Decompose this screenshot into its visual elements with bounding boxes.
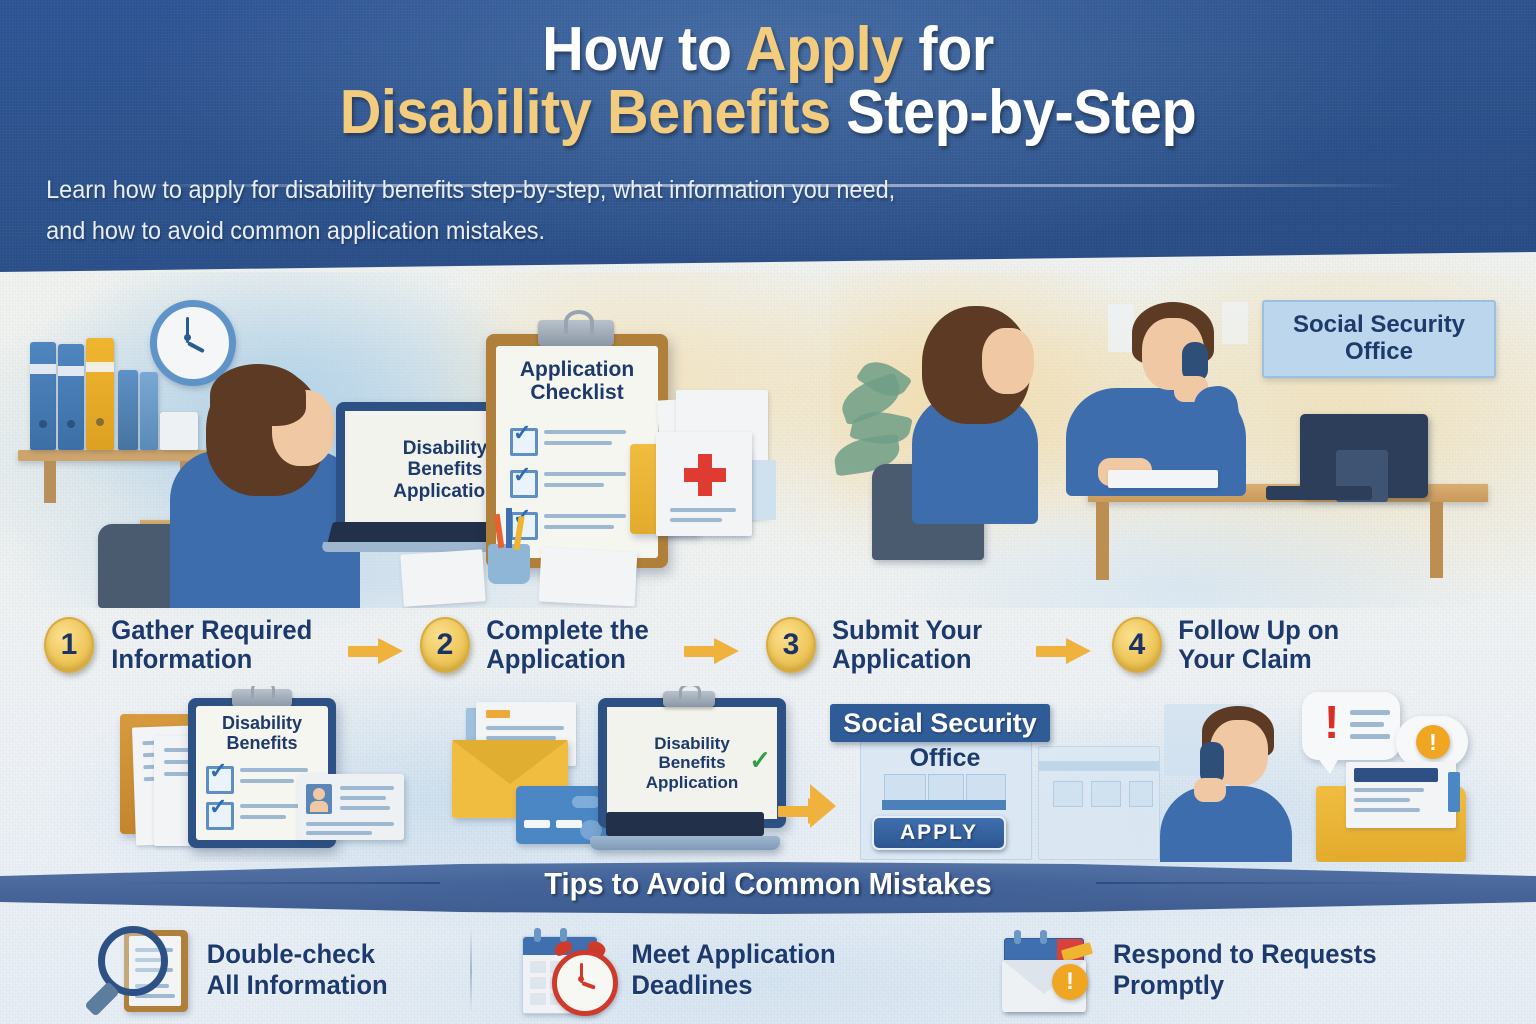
alert-bubble-amber: ! xyxy=(1396,716,1468,768)
page-title-line-2: Disability Benefits Step-by-Step xyxy=(54,81,1482,144)
alert-bubble-red-tail xyxy=(1316,756,1340,774)
hero-scene-ss-office: Social Security Office xyxy=(830,272,1536,608)
medical-cross-horizontal xyxy=(684,468,726,482)
office-keyboard xyxy=(1266,486,1372,500)
step-panel-1: Disability Benefits ✓ ✓ xyxy=(100,686,430,862)
tip2-calendar-ring-1 xyxy=(534,928,541,942)
step-label-1: Gather Required Information xyxy=(111,616,312,674)
binder-4 xyxy=(118,370,138,450)
social-security-office-sign: Social Security Office xyxy=(1262,300,1496,378)
amber-exclamation-icon: ! xyxy=(1416,725,1450,759)
panel1-check-icon-1: ✓ xyxy=(209,760,227,782)
step-item-4[interactable]: 4 Follow Up on Your Claim xyxy=(1112,616,1343,674)
tip2-alarm-clock xyxy=(552,950,618,1016)
laptop-keyboard xyxy=(327,522,492,544)
envelope-alert-icon: ! xyxy=(1000,924,1092,1016)
binder-5 xyxy=(140,372,158,450)
binder-2 xyxy=(58,344,84,450)
step-label-4-line-2: Your Claim xyxy=(1178,645,1339,674)
loose-paper-right xyxy=(539,548,638,607)
page-title-line-1: How to Apply for xyxy=(54,18,1482,81)
step-item-2[interactable]: 2 Complete the Application xyxy=(420,616,653,674)
subtitle-line-2: and how to avoid common application mist… xyxy=(46,211,1490,252)
step-panel-3: Social Security Office APPLY xyxy=(810,686,1160,862)
envelope-flap xyxy=(452,740,568,784)
desk-papers xyxy=(1108,470,1218,488)
tip-label-1-line-1: Double-check xyxy=(207,939,388,970)
tips-title: Tips to Avoid Common Mistakes xyxy=(46,866,1490,902)
clock-hour-hand xyxy=(187,341,205,353)
calendar-alarm-clock-icon xyxy=(520,924,612,1016)
step-label-3: Submit Your Application xyxy=(832,616,982,674)
title-part-disability-benefits: Disability Benefits xyxy=(340,78,847,147)
step-arrow-2-to-3 xyxy=(684,638,740,664)
title-part-apply: Apply xyxy=(745,15,903,84)
hero-scene-home-office: Disability Benefits Application ✓ Applic… xyxy=(0,272,830,608)
monitor-text-line-1: Disability xyxy=(403,438,487,460)
hero-illustrations: Disability Benefits Application ✓ Applic… xyxy=(0,272,1536,608)
step-illustration-panels: Disability Benefits ✓ ✓ xyxy=(0,686,1536,862)
step-label-2-line-1: Complete the xyxy=(486,616,648,645)
tips-section: Tips to Avoid Common Mistakes Double-che… xyxy=(0,862,1536,1024)
loose-paper-left xyxy=(400,549,485,607)
pencil-cup xyxy=(488,544,530,584)
step-panel-4: ! ! xyxy=(1160,686,1536,862)
panel1-clipboard-line-1: Disability xyxy=(196,714,328,734)
laptop-green-check-icon: ✓ xyxy=(749,747,771,773)
subtitle-line-1: Learn how to apply for disability benefi… xyxy=(46,170,1490,211)
pencil-2 xyxy=(506,508,512,548)
adjacent-building xyxy=(1038,746,1160,860)
clipboard-title: Application Checklist xyxy=(496,358,658,404)
sign-line-1: Social Security xyxy=(1293,312,1465,339)
shelf xyxy=(18,450,214,461)
step-label-2: Complete the Application xyxy=(486,616,648,674)
panel1-clipboard-ring xyxy=(251,686,275,698)
step-label-3-line-2: Application xyxy=(832,645,982,674)
alert-bubble-red: ! xyxy=(1302,692,1400,760)
id-card-photo xyxy=(306,784,332,814)
tip-label-1-line-2: All Information xyxy=(207,970,388,1001)
step-label-1-line-2: Information xyxy=(111,645,312,674)
panel1-clipboard-title: Disability Benefits xyxy=(196,714,328,754)
header-subtitle: Learn how to apply for disability benefi… xyxy=(46,170,1490,251)
tip-label-2-line-2: Deadlines xyxy=(631,970,835,1001)
step-label-4-line-1: Follow Up on xyxy=(1178,616,1339,645)
tip-label-3: Respond to Requests Promptly xyxy=(1113,939,1377,1001)
step-label-2-line-2: Application xyxy=(486,645,648,674)
clipboard-title-line-2: Checklist xyxy=(496,381,658,404)
tip-label-3-line-2: Promptly xyxy=(1113,970,1377,1001)
apply-button[interactable]: APPLY xyxy=(872,816,1006,850)
panel3-incoming-arrow xyxy=(810,784,836,828)
header-inner: How to Apply for Disability Benefits Ste… xyxy=(0,0,1536,144)
title-part-for: for xyxy=(903,15,994,84)
panel1-clipboard-line-2: Benefits xyxy=(196,734,328,754)
step-item-3[interactable]: 3 Submit Your Application xyxy=(766,616,986,674)
clipboard-ring xyxy=(564,310,594,334)
steps-row: 1 Gather Required Information 2 Complete… xyxy=(0,608,1536,694)
tip1-magnifier-handle xyxy=(84,981,119,1016)
ss-banner-line1: Social Security xyxy=(830,704,1050,742)
red-exclamation-icon: ! xyxy=(1324,702,1339,743)
checklist-check-icon-2: ✓ xyxy=(513,464,531,486)
ss-banner-line2: Office xyxy=(860,744,1030,773)
laptop-keys xyxy=(606,812,764,836)
paper-stack-shelf xyxy=(160,412,198,450)
binder-3 xyxy=(86,338,114,450)
magnifier-document-icon xyxy=(96,924,188,1016)
monitor-text-line-2: Benefits xyxy=(408,459,483,481)
step-label-4: Follow Up on Your Claim xyxy=(1178,616,1339,674)
step-arrow-3-to-4 xyxy=(1036,638,1092,664)
step-number-badge-1: 1 xyxy=(44,617,94,673)
step-number-badge-3: 3 xyxy=(766,617,816,673)
tip-item-3[interactable]: ! Respond to Requests Promptly xyxy=(1000,924,1384,1016)
tip-label-2: Meet Application Deadlines xyxy=(631,939,835,1001)
office-desk-leg-left xyxy=(1096,502,1109,580)
panel4-hand xyxy=(1194,778,1226,802)
tip3-alert-badge: ! xyxy=(1052,964,1088,1000)
laptop-text-line-1: Disability xyxy=(654,734,730,753)
id-card xyxy=(298,774,404,840)
panel4-tab-marker xyxy=(1448,772,1460,812)
laptop-screen: Disability Benefits Application ✓ xyxy=(598,698,786,828)
title-part-step-by-step: Step-by-Step xyxy=(846,78,1196,147)
laptop-text-line-3: Application xyxy=(646,773,739,792)
step-number-badge-2: 2 xyxy=(420,617,470,673)
infographic-page: How to Apply for Disability Benefits Ste… xyxy=(0,0,1536,1024)
tip-label-3-line-1: Respond to Requests xyxy=(1113,939,1377,970)
panel4-man-body xyxy=(1160,786,1292,862)
tip-divider-1 xyxy=(470,928,472,1012)
tip-item-1[interactable]: Double-check All Information xyxy=(96,924,393,1016)
office-desk-leg-right xyxy=(1430,502,1443,578)
tip3-ring-1 xyxy=(1014,930,1021,944)
header-banner: How to Apply for Disability Benefits Ste… xyxy=(0,0,1536,272)
panel4-letter xyxy=(1346,762,1456,828)
clock-center-pin xyxy=(184,334,191,341)
clipboard-title-line-1: Application xyxy=(496,358,658,381)
laptop-deck xyxy=(590,836,780,850)
tip-label-2-line-1: Meet Application xyxy=(631,939,835,970)
step-arrow-1-to-2 xyxy=(348,638,404,664)
step-panel-2: Disability Benefits Application ✓ xyxy=(430,686,820,862)
wall-panel-2 xyxy=(1222,302,1248,344)
tip3-ring-2 xyxy=(1040,930,1047,944)
binder-1 xyxy=(30,342,56,450)
woman-hair-top xyxy=(210,364,306,426)
laptop-ring xyxy=(679,686,701,699)
title-part-how-to: How to xyxy=(542,15,745,84)
laptop-text-line-2: Benefits xyxy=(658,753,725,772)
monitor-text-line-3: Application xyxy=(393,481,496,503)
tip-item-2[interactable]: Meet Application Deadlines xyxy=(520,924,841,1016)
step-item-1[interactable]: 1 Gather Required Information xyxy=(44,616,318,674)
shelf-leg-left xyxy=(44,461,56,503)
step-label-3-line-1: Submit Your xyxy=(832,616,982,645)
visitor-face xyxy=(982,328,1034,394)
sign-line-2: Office xyxy=(1345,339,1413,366)
medical-document xyxy=(656,432,752,536)
step-label-1-line-1: Gather Required xyxy=(111,616,312,645)
tip2-clock-hour-hand xyxy=(581,981,596,990)
checklist-check-icon-1: ✓ xyxy=(513,422,531,444)
tip-label-1: Double-check All Information xyxy=(207,939,388,1001)
wall-panel-1 xyxy=(1108,304,1134,352)
step-number-badge-4: 4 xyxy=(1112,617,1162,673)
panel1-check-icon-2: ✓ xyxy=(209,796,227,818)
